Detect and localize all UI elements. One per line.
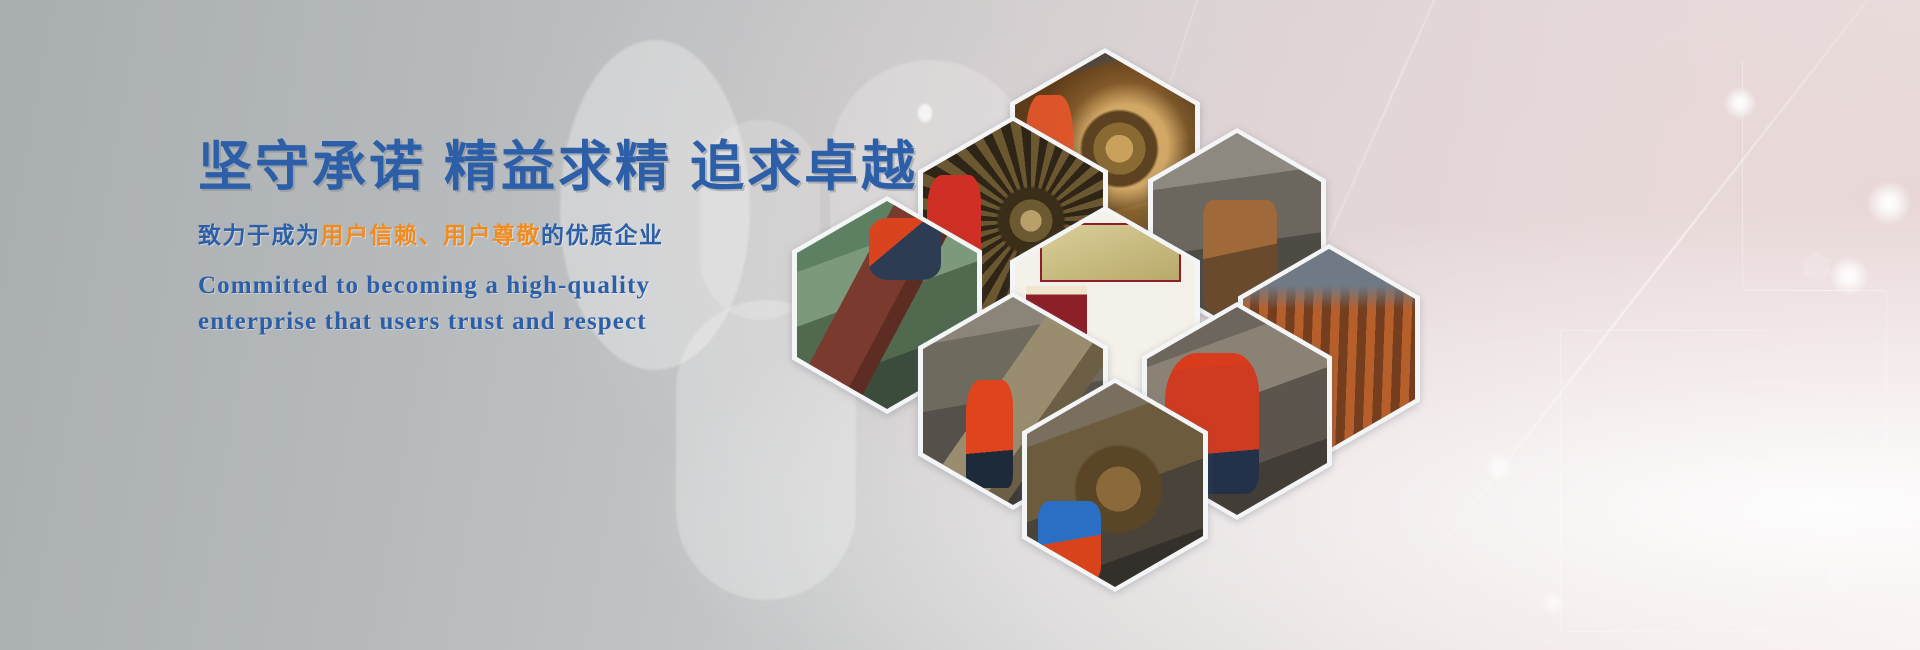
glow-dot-icon	[1484, 452, 1514, 482]
hexagon-photo-collage	[770, 48, 1430, 518]
circuit-trace-icon	[1790, 290, 1887, 551]
light-streak-icon	[1363, 0, 1919, 645]
hex-tile-gear-assembly	[1022, 378, 1208, 592]
subtitle-highlight-1: 用户信赖	[321, 222, 419, 248]
circuit-node-icon	[1804, 252, 1830, 282]
circuit-node-icon	[1828, 560, 1854, 590]
glow-dot-icon	[1866, 180, 1912, 226]
hex-photo-gear-assembly	[1027, 383, 1203, 587]
glow-dot-icon	[1540, 590, 1566, 616]
hex-frame	[1022, 378, 1208, 592]
subtitle-tail: 的优质企业	[541, 222, 664, 248]
subtitle-separator: 、	[419, 222, 444, 248]
subtitle-lead: 致力于成为	[198, 222, 321, 248]
subtitle-highlight-2: 用户尊敬	[443, 222, 541, 248]
circuit-trace-icon	[1742, 60, 1863, 291]
glow-dot-icon	[1723, 86, 1757, 120]
promo-banner: 坚守承诺 精益求精 追求卓越 致力于成为用户信赖、用户尊敬的优质企业 Commi…	[0, 0, 1920, 650]
glow-dot-icon	[1829, 256, 1869, 296]
circuit-trace-icon	[1560, 330, 1771, 632]
